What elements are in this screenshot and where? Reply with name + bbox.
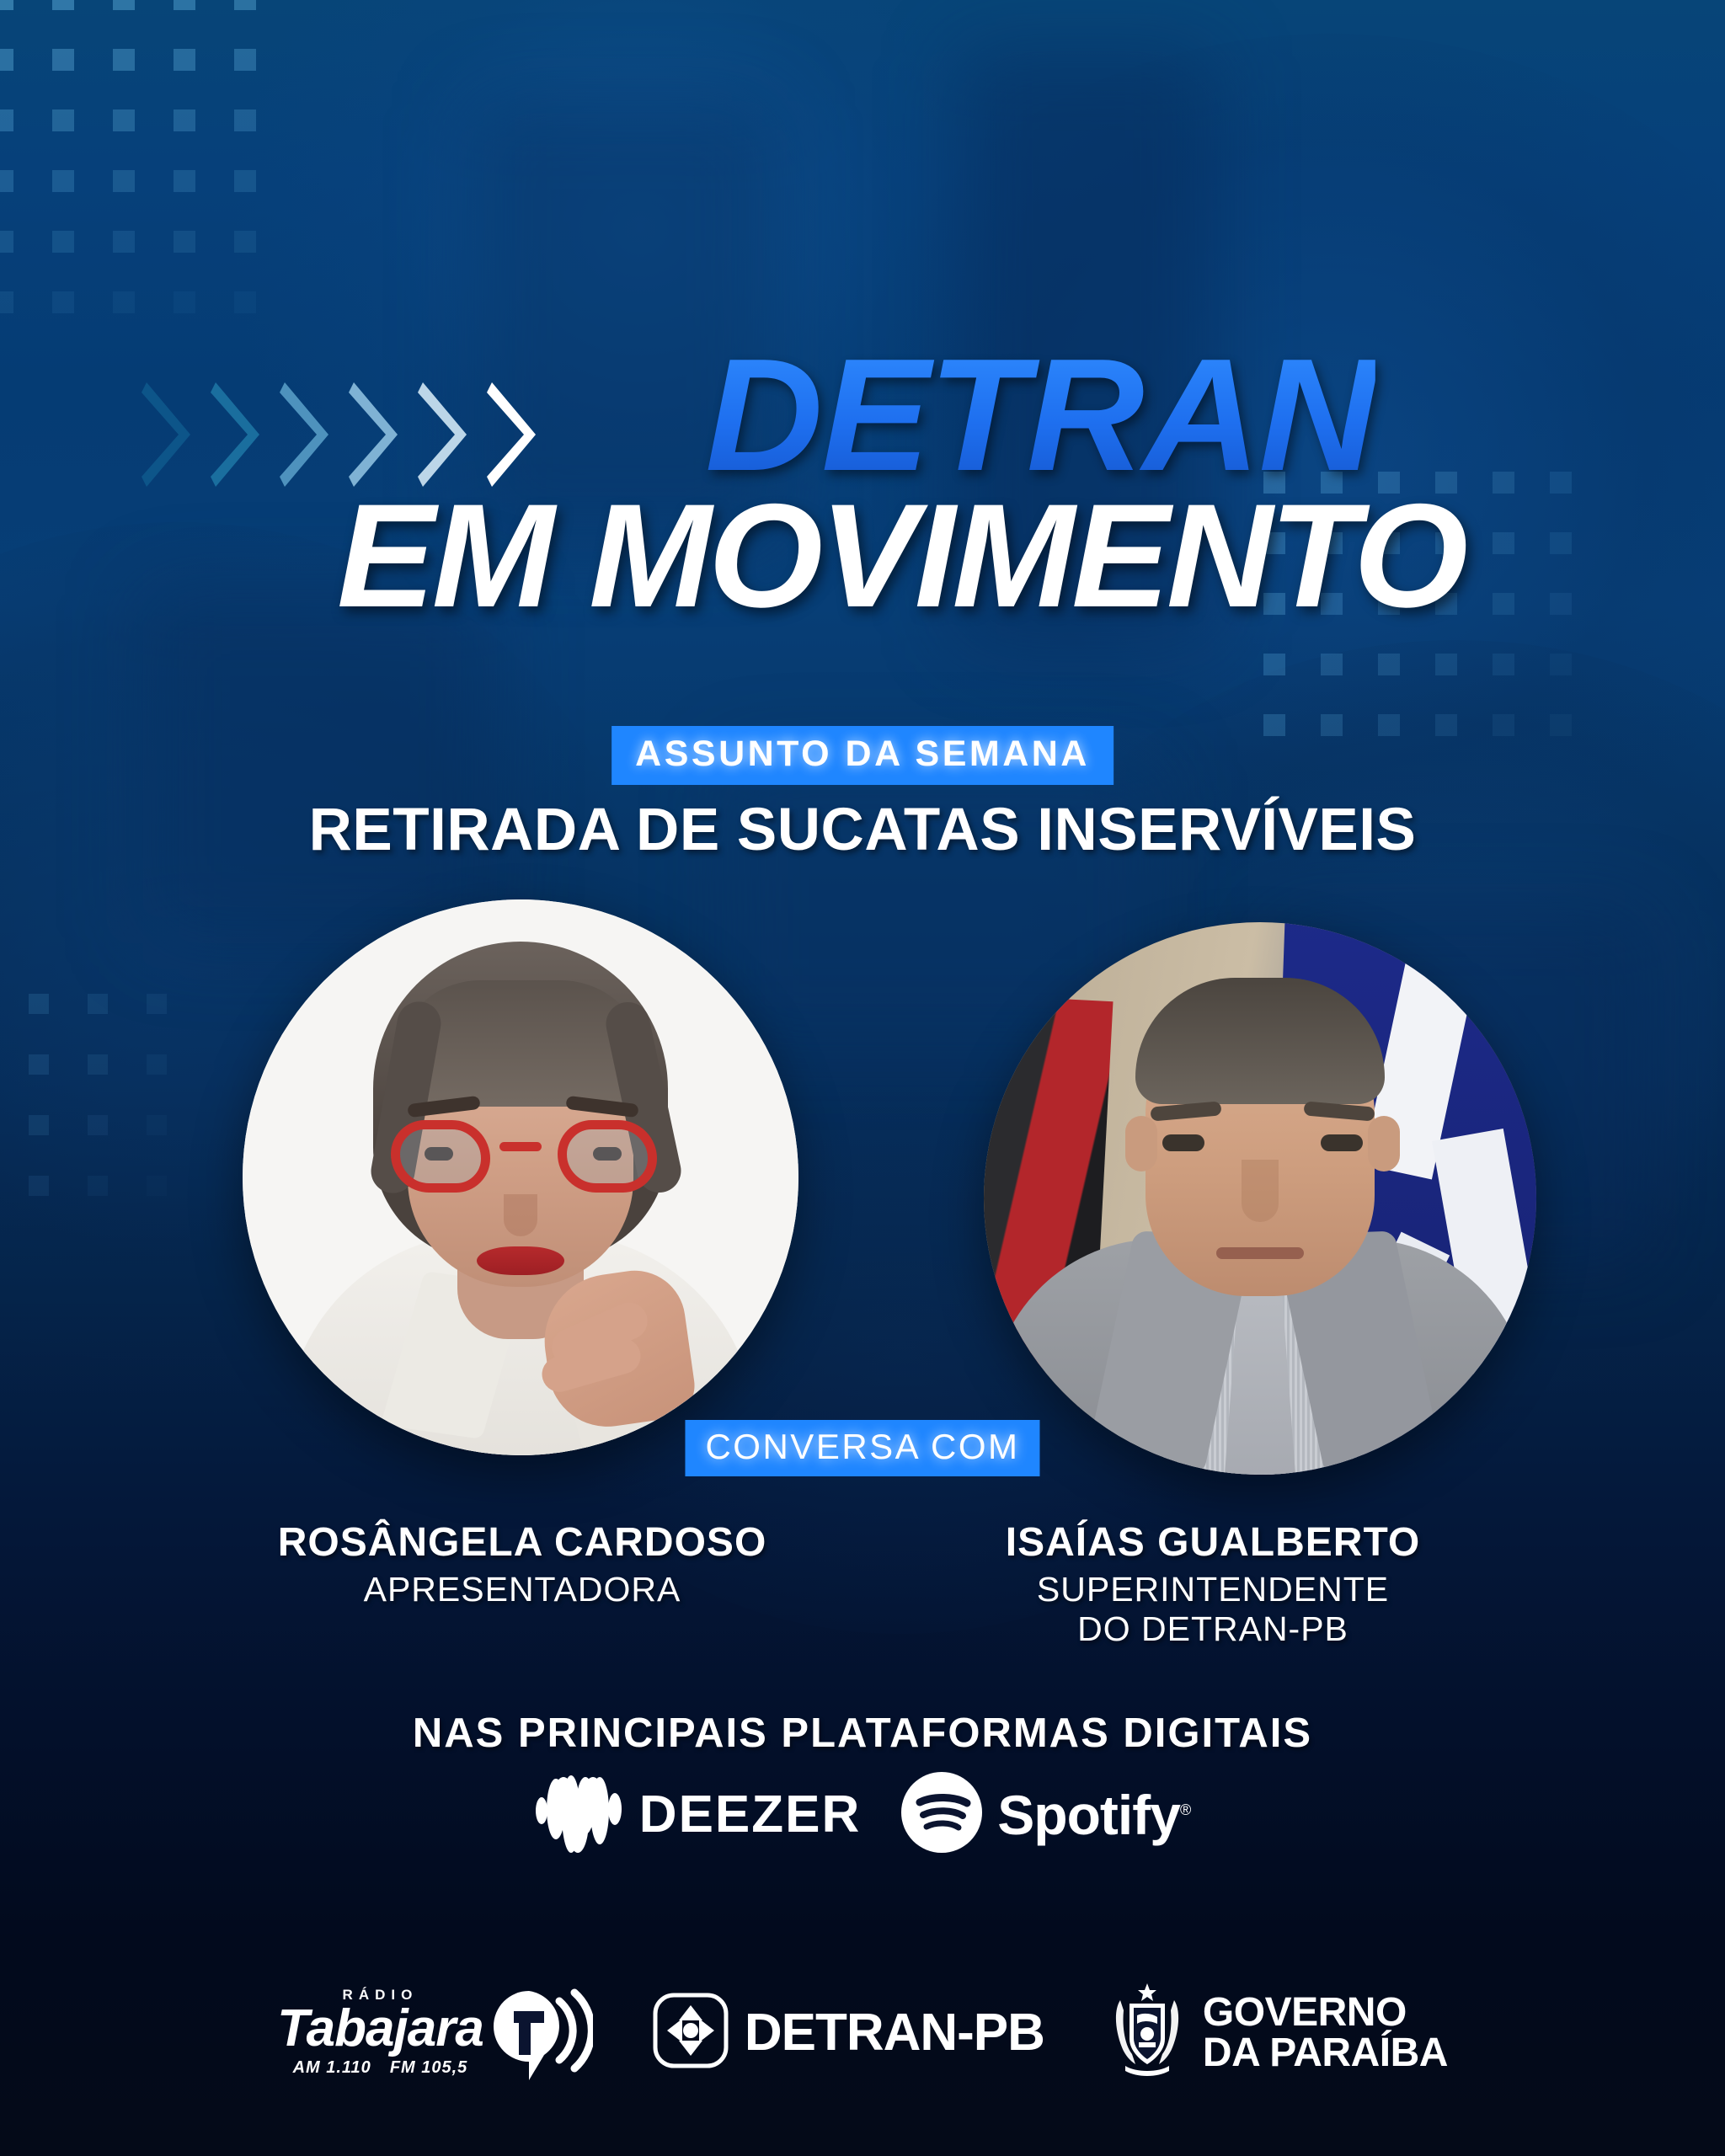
conversa-com-badge: CONVERSA COM [685, 1420, 1039, 1476]
platform-name: Spotify® [997, 1787, 1190, 1843]
footer-logo-governo-paraiba: GOVERNO DA PARAÍBA [1103, 1982, 1448, 2084]
logo-detran-text: DETRAN [705, 335, 1375, 495]
detran-arrows-icon [652, 1992, 729, 2073]
footer-logos: RÁDIO Tabajara AM 1.110 FM 105,5 [0, 1981, 1725, 2084]
footer-logo-detran: DETRAN-PB [652, 1992, 1044, 2073]
spotify-icon [900, 1770, 984, 1859]
detran-footer-name: DETRAN-PB [745, 2007, 1044, 2059]
platform-deezer[interactable]: DEEZER [535, 1769, 861, 1860]
guest-role-line1: SUPERINTENDENTE [893, 1570, 1533, 1609]
podcast-promo-poster: DETRAN EM MOVIMENTO ASSUNTO DA SEMANA RE… [0, 0, 1725, 2156]
radio-am-frequency: AM 1.110 [293, 2058, 371, 2078]
platform-name-text: Spotify [997, 1784, 1180, 1846]
government-line2: DA PARAÍBA [1203, 2033, 1448, 2073]
guest-name: ISAÍAS GUALBERTO [893, 1521, 1533, 1565]
guest-name: ROSÂNGELA CARDOSO [202, 1521, 842, 1565]
footer-logo-radio-tabajara: RÁDIO Tabajara AM 1.110 FM 105,5 [277, 1981, 593, 2084]
radio-name: Tabajara [277, 2004, 483, 2054]
platform-name: DEEZER [639, 1789, 861, 1841]
paraiba-coat-of-arms-icon [1103, 1982, 1191, 2084]
guest-role-line1: APRESENTADORA [202, 1570, 842, 1609]
guest-info-right: ISAÍAS GUALBERTO SUPERINTENDENTE DO DETR… [893, 1521, 1533, 1648]
guest-info-left: ROSÂNGELA CARDOSO APRESENTADORA [202, 1521, 842, 1609]
program-logo: DETRAN EM MOVIMENTO [0, 335, 1725, 655]
deezer-icon [535, 1769, 626, 1860]
logo-em-movimento-text: EM MOVIMENTO [337, 483, 1465, 630]
guest-photo-rosangela [243, 899, 798, 1455]
platforms-title: NAS PRINCIPAIS PLATAFORMAS DIGITAIS [0, 1710, 1725, 1757]
guest-photo-isaias [984, 922, 1536, 1475]
tabajara-antenna-icon [492, 1981, 593, 2084]
registered-mark: ® [1180, 1801, 1190, 1818]
government-line1: GOVERNO [1203, 1993, 1448, 2032]
page-title: RETIRADA DE SUCATAS INSERVÍVEIS [0, 796, 1725, 864]
platform-spotify[interactable]: Spotify® [900, 1770, 1190, 1859]
radio-fm-frequency: FM 105,5 [390, 2058, 467, 2078]
guest-role-line2: DO DETRAN-PB [893, 1609, 1533, 1649]
subject-badge: ASSUNTO DA SEMANA [611, 726, 1114, 785]
platforms-row: DEEZER Spotify® [0, 1769, 1725, 1860]
